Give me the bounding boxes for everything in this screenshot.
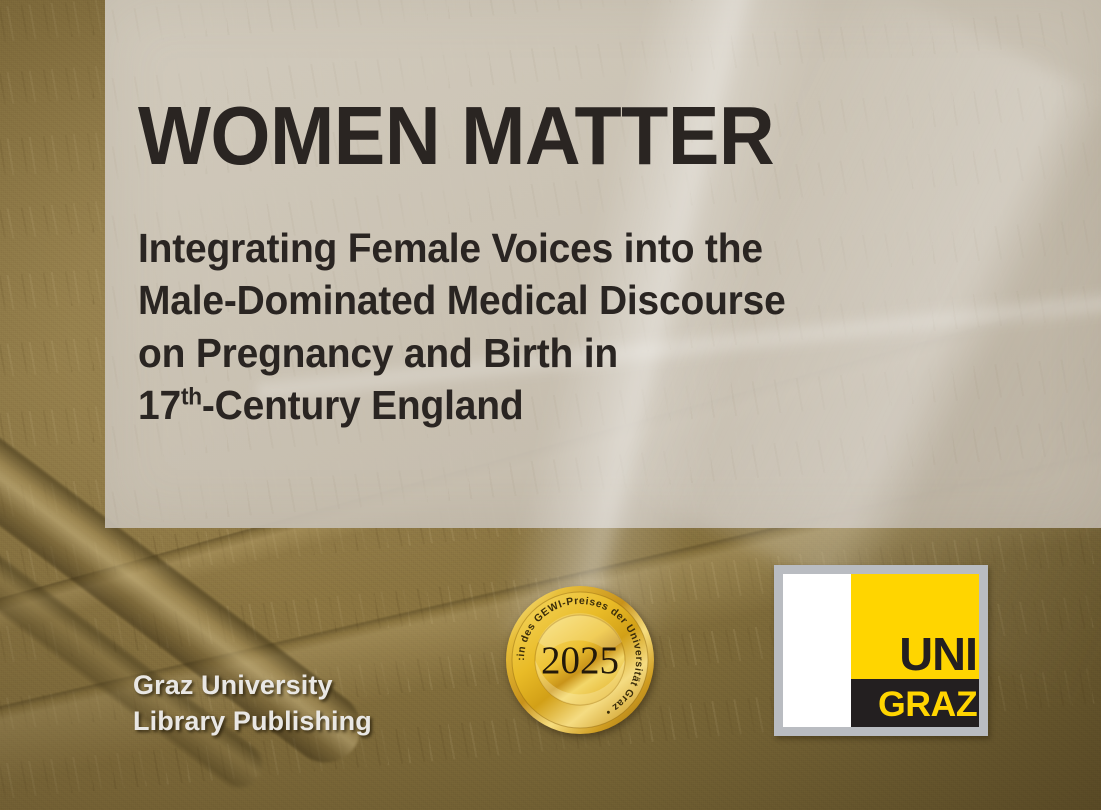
subtitle-line: on Pregnancy and Birth in <box>138 327 1012 379</box>
publisher-imprint: Graz University Library Publishing <box>133 668 372 739</box>
subtitle-line: Male-Dominated Medical Discourse <box>138 274 1012 326</box>
uni-graz-logo: UNI GRAZ <box>774 565 988 736</box>
logo-text-graz: GRAZ <box>878 687 977 722</box>
subtitle-line: Integrating Female Voices into the <box>138 222 1012 274</box>
logo-white-panel <box>783 574 851 727</box>
book-cover: WOMEN MATTER Integrating Female Voices i… <box>0 0 1101 810</box>
award-seal-graphic: Preisträger:in des GEWI-Preises der Univ… <box>504 584 656 736</box>
ordinal-suffix: th <box>181 383 202 410</box>
award-seal: Preisträger:in des GEWI-Preises der Univ… <box>504 584 656 736</box>
century-rest: -Century England <box>202 382 524 428</box>
logo-yellow-panel: UNI GRAZ <box>851 574 979 727</box>
logo-inner: UNI GRAZ <box>783 574 979 727</box>
logo-text-uni: UNI <box>899 631 977 677</box>
subtitle: Integrating Female Voices into the Male-… <box>138 176 1012 432</box>
century-number: 17 <box>138 382 181 428</box>
subtitle-line-ordinal: 17th-Century England <box>138 379 1012 431</box>
main-title: WOMEN MATTER <box>138 96 994 176</box>
seal-year: 2025 <box>541 639 619 682</box>
title-block: WOMEN MATTER Integrating Female Voices i… <box>138 96 1058 432</box>
publisher-line: Library Publishing <box>133 704 372 740</box>
publisher-line: Graz University <box>133 668 372 704</box>
